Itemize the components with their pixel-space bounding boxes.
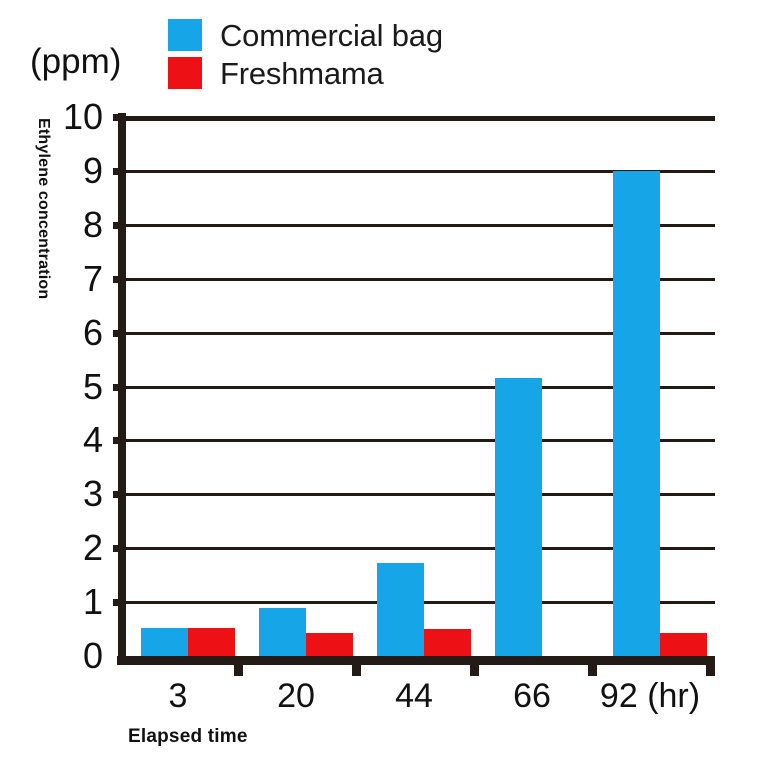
bar — [660, 633, 707, 656]
legend-label-commercial-bag: Commercial bag — [220, 20, 443, 51]
y-axis-tick — [113, 222, 126, 229]
x-axis-tick — [588, 656, 597, 676]
chart-legend: Commercial bag Freshmama — [168, 16, 588, 92]
x-axis-tick-label: 3 — [169, 679, 188, 713]
x-axis-tick — [470, 656, 479, 676]
x-axis-tick-label: 20 — [277, 679, 315, 713]
bar — [613, 171, 660, 656]
legend-swatch-commercial-bag-icon — [168, 19, 202, 51]
y-axis-tick-label: 4 — [83, 422, 103, 458]
gridline — [125, 116, 715, 121]
legend-label-freshmama: Freshmama — [220, 58, 384, 89]
legend-item-commercial-bag: Commercial bag — [168, 16, 588, 54]
y-axis-tick — [113, 491, 126, 498]
y-axis-tick-label: 7 — [83, 261, 103, 297]
bar — [424, 629, 471, 656]
y-axis-tick-label: 10 — [63, 99, 103, 135]
x-axis-line — [117, 656, 715, 665]
x-axis-tick — [706, 656, 715, 676]
bar — [141, 628, 188, 656]
y-axis-tick-label: 2 — [83, 530, 103, 566]
x-axis-tick — [234, 656, 243, 676]
y-axis-tick-label: 1 — [83, 584, 103, 620]
y-axis-tick-label: 6 — [83, 315, 103, 351]
y-axis-tick — [113, 114, 126, 121]
x-axis-tick-label: 92 (hr) — [600, 679, 700, 713]
y-axis-tick-label: 9 — [83, 153, 103, 189]
legend-item-freshmama: Freshmama — [168, 54, 588, 92]
bar — [259, 608, 306, 657]
y-axis-tick-label: 8 — [83, 207, 103, 243]
x-axis-title: Elapsed time — [128, 726, 248, 748]
bar — [495, 378, 542, 656]
plot-area: 012345678910 320446692 (hr) — [125, 117, 715, 656]
x-axis-tick-label: 44 — [395, 679, 433, 713]
x-axis-tick-label: 66 — [513, 679, 551, 713]
y-axis-tick — [113, 437, 126, 444]
y-axis-tick — [113, 599, 126, 606]
y-axis-tick-label: 0 — [83, 638, 103, 674]
bar — [188, 628, 235, 656]
y-axis-tick — [113, 545, 126, 552]
y-axis-title: Ethylene concentration — [22, 118, 52, 378]
x-axis-tick — [352, 656, 361, 676]
y-axis-units-label: (ppm) — [30, 44, 121, 79]
y-axis-tick — [113, 276, 126, 283]
y-axis-tick — [113, 330, 126, 337]
bar — [377, 563, 424, 656]
legend-swatch-freshmama-icon — [168, 57, 202, 89]
x-axis-units-label: (hr) — [638, 677, 700, 715]
bar — [306, 633, 353, 656]
y-axis-tick-label: 5 — [83, 369, 103, 405]
y-axis-tick — [113, 384, 126, 391]
y-axis-tick-label: 3 — [83, 476, 103, 512]
y-axis-tick — [113, 168, 126, 175]
